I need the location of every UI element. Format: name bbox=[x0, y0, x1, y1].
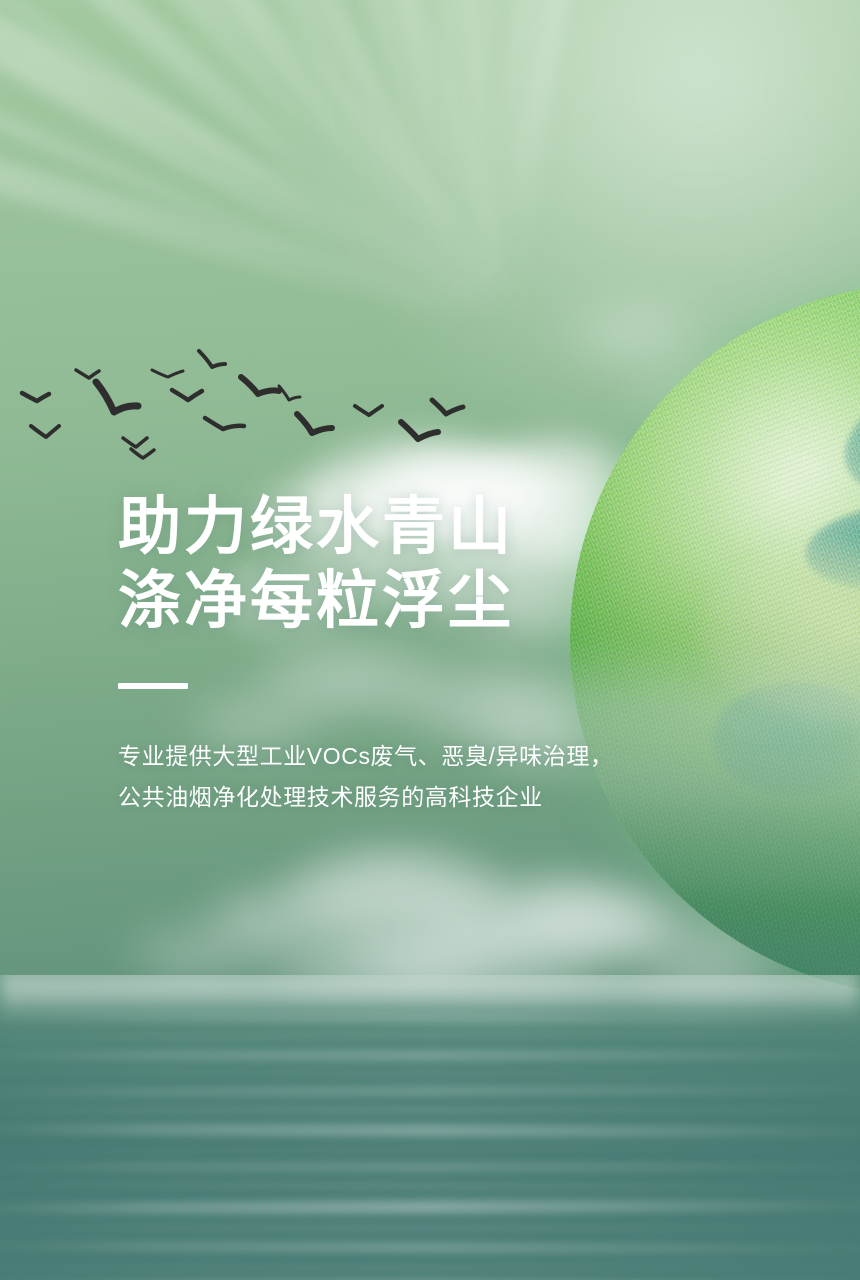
cloud-puff bbox=[560, 300, 710, 364]
water-ripple bbox=[0, 1163, 860, 1171]
subtitle-line-1: 专业提供大型工业VOCs废气、恶臭/异味治理， bbox=[118, 737, 678, 776]
water-ripple bbox=[0, 1031, 860, 1039]
sun-ray bbox=[0, 0, 477, 330]
sun-ray bbox=[0, 0, 490, 330]
water-ripple bbox=[0, 1199, 860, 1214]
sun-ray bbox=[0, 0, 493, 330]
cloud-puff bbox=[420, 870, 670, 966]
cloud-puff bbox=[500, 880, 690, 958]
sun-ray bbox=[0, 0, 479, 330]
water-ripple bbox=[0, 1145, 860, 1153]
sun-ray bbox=[470, 0, 702, 337]
sun-ray bbox=[319, 0, 507, 330]
cloud-puff bbox=[120, 920, 280, 982]
sun-ray bbox=[0, 0, 490, 330]
subtitle-line-2: 公共油烟净化处理技术服务的高科技企业 bbox=[118, 778, 678, 817]
divider-rule bbox=[118, 683, 188, 689]
water-ripple bbox=[0, 1241, 860, 1253]
water-ripple bbox=[0, 1181, 860, 1190]
sun-ray bbox=[470, 0, 496, 330]
cloud-puff bbox=[280, 840, 510, 930]
sun-ray bbox=[0, 0, 508, 330]
water-surface bbox=[0, 975, 860, 1280]
cloud-puff bbox=[620, 360, 790, 430]
sun-ray bbox=[0, 0, 476, 330]
sun-ray bbox=[19, 0, 527, 330]
water-ripple bbox=[0, 1225, 860, 1231]
cloud-puff bbox=[620, 950, 800, 1020]
water-ripple bbox=[0, 1263, 860, 1271]
cloud-puff bbox=[330, 900, 540, 980]
water-ripple bbox=[0, 1085, 860, 1096]
water-ripple bbox=[0, 1069, 860, 1077]
water-ripple bbox=[0, 1123, 860, 1137]
water-ripple bbox=[0, 1107, 860, 1113]
cloud-puff bbox=[380, 940, 620, 1024]
water-ripple bbox=[0, 981, 860, 989]
birds-svg bbox=[0, 330, 470, 470]
sun-ray bbox=[0, 0, 485, 330]
water-ripple bbox=[0, 997, 860, 1001]
water-ripple bbox=[0, 1013, 860, 1023]
cloud-puff bbox=[200, 880, 380, 954]
cloud-puff bbox=[600, 900, 800, 980]
sun-ray bbox=[189, 0, 483, 330]
bird-flock bbox=[0, 330, 470, 470]
headline-line-1: 助力绿水青山 bbox=[118, 490, 678, 564]
water-ripple bbox=[0, 1051, 860, 1060]
eco-poster: 助力绿水青山 涤净每粒浮尘 专业提供大型工业VOCs废气、恶臭/异味治理， 公共… bbox=[0, 0, 860, 1280]
cloud-puff bbox=[260, 930, 480, 1010]
sun-ray bbox=[470, 0, 807, 334]
sun-glow bbox=[320, 0, 860, 460]
water-haze bbox=[0, 975, 860, 1019]
headline-line-2: 涤净每粒浮尘 bbox=[118, 564, 678, 638]
text-block: 助力绿水青山 涤净每粒浮尘 专业提供大型工业VOCs废气、恶臭/异味治理， 公共… bbox=[118, 490, 678, 817]
sun-ray bbox=[0, 0, 522, 330]
